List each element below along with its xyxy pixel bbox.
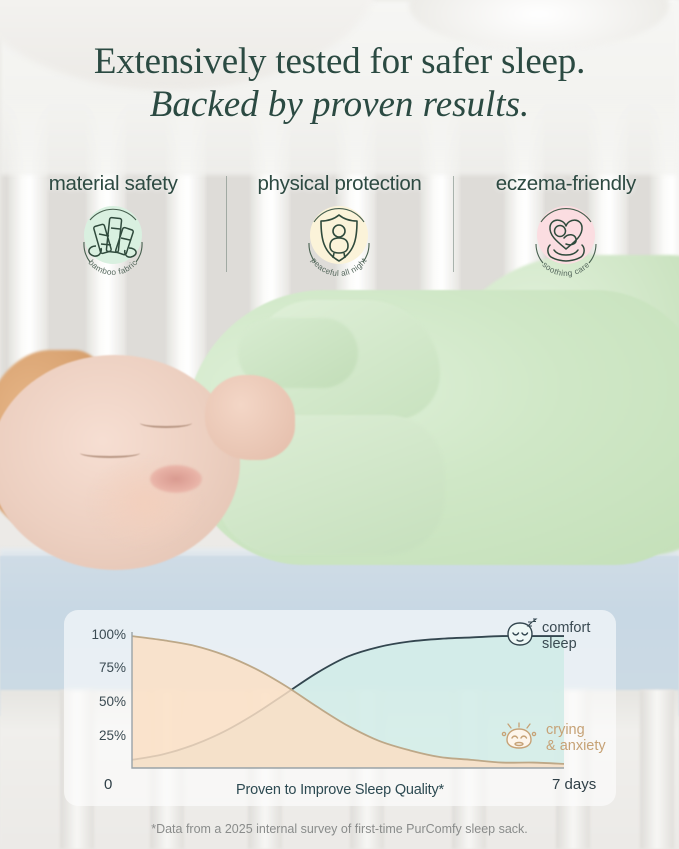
sleeping-baby-face-icon <box>500 618 540 650</box>
svg-text:soothing care: soothing care <box>540 260 591 278</box>
svg-text:peaceful all night: peaceful all night <box>310 256 370 278</box>
feature-label: material safety <box>0 172 226 196</box>
badge-peaceful-all-night: peaceful all night <box>296 198 382 284</box>
y-tick-75: 75% <box>64 660 126 675</box>
sleep-quality-chart-card: 100% 75% 50% 25% 0 7 days Proven to Impr… <box>64 610 616 806</box>
legend-comfort-line1: comfort <box>542 620 590 636</box>
feature-material-safety: material safety bamboo fabri <box>0 172 226 282</box>
feature-eczema-friendly: eczema-friendly soothing care <box>453 172 679 282</box>
baby-mouth <box>150 465 202 493</box>
legend-comfort-sleep: comfort sleep <box>542 620 590 652</box>
feature-label: eczema-friendly <box>453 172 679 196</box>
svg-text:bamboo fabric: bamboo fabric <box>87 258 140 277</box>
badge-caption-bamboo-fabric: bamboo fabric <box>70 198 156 284</box>
badge-soothing-care: soothing care <box>523 198 609 284</box>
badge-bamboo-fabric: bamboo fabric <box>70 198 156 284</box>
y-tick-50: 50% <box>64 694 126 709</box>
headline-line-2: Backed by proven results. <box>0 85 679 124</box>
chart-title: Proven to Improve Sleep Quality* <box>64 782 616 798</box>
chart-footnote: *Data from a 2025 internal survey of fir… <box>0 822 679 836</box>
baby-hand <box>205 375 295 460</box>
page-headline: Extensively tested for safer sleep. Back… <box>0 42 679 124</box>
y-tick-100: 100% <box>64 627 126 642</box>
legend-comfort-line2: sleep <box>542 636 590 652</box>
baby-eye-left <box>80 448 140 458</box>
feature-physical-protection: physical protection peaceful all night <box>226 172 452 282</box>
chart-area: 100% 75% 50% 25% 0 7 days Proven to Impr… <box>64 610 616 806</box>
y-tick-25: 25% <box>64 728 126 743</box>
crying-baby-face-icon <box>498 720 540 754</box>
feature-label: physical protection <box>226 172 452 196</box>
legend-crying-anxiety: crying & anxiety <box>546 722 606 754</box>
legend-crying-line2: & anxiety <box>546 738 606 754</box>
feature-row: material safety bamboo fabri <box>0 172 679 282</box>
feature-divider <box>453 176 454 272</box>
baby-eye-right <box>140 418 192 428</box>
badge-caption-peaceful-all-night: peaceful all night <box>296 198 382 284</box>
legend-crying-line1: crying <box>546 722 606 738</box>
headline-line-1: Extensively tested for safer sleep. <box>0 42 679 81</box>
feature-divider <box>226 176 227 272</box>
badge-caption-soothing-care: soothing care <box>523 198 609 284</box>
